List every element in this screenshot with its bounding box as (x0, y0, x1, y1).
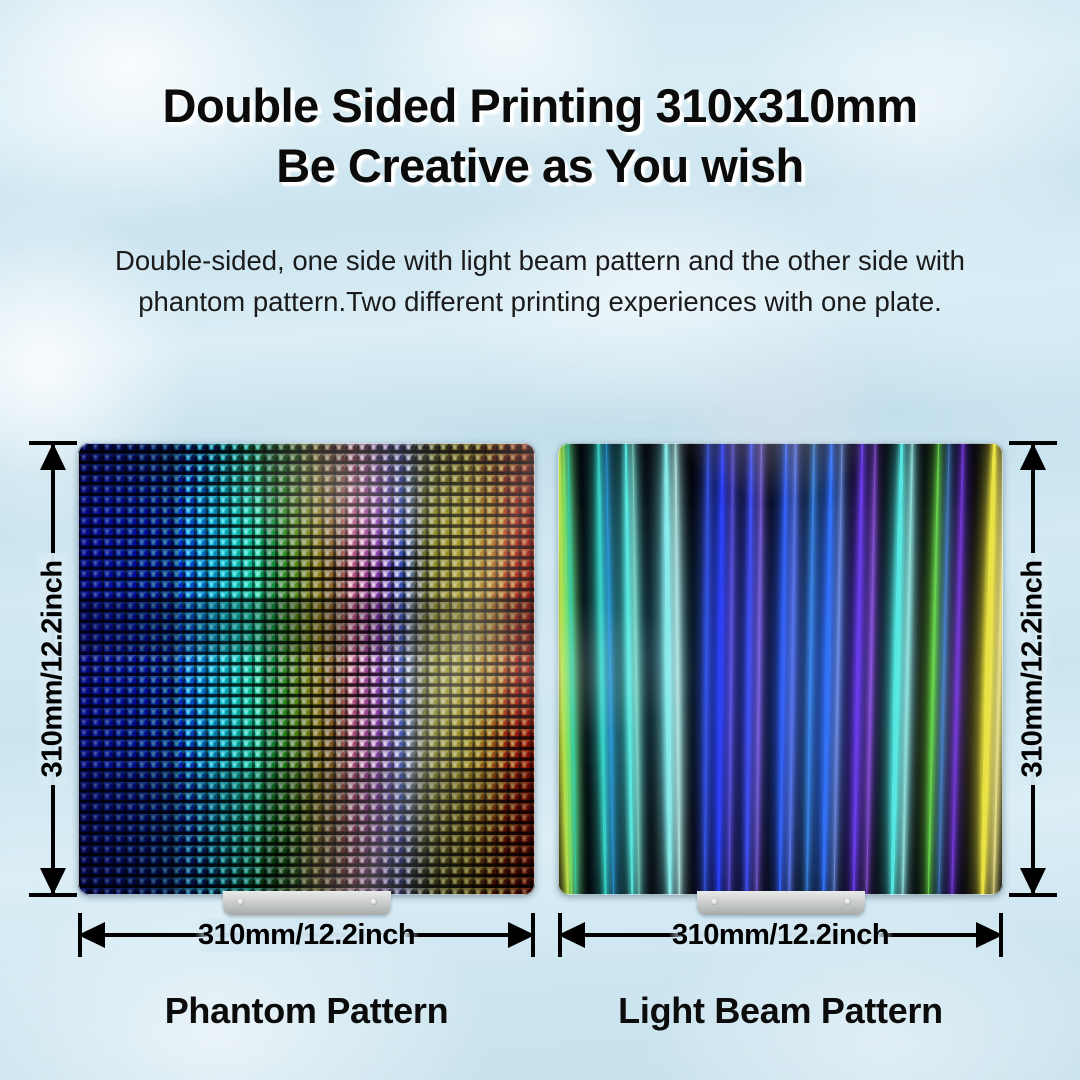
light-beam-width-label: 310mm/12.2inch (668, 919, 893, 952)
product-infographic: Double Sided Printing 310x310mm Be Creat… (0, 0, 1080, 1080)
phantom-height-label: 310mm/12.2inch (37, 560, 70, 777)
arrow-right-icon (508, 922, 535, 948)
subtitle-description: Double-sided, one side with light beam p… (90, 240, 990, 322)
arrow-down-icon (40, 868, 66, 895)
phantom-plate-caption: Phantom Pattern (78, 990, 535, 1032)
arrow-left-icon (78, 922, 105, 948)
arrow-left-icon (558, 922, 585, 948)
light-beam-plate-caption: Light Beam Pattern (558, 990, 1003, 1032)
phantom-pattern-texture (78, 443, 535, 895)
phantom-width-dimension: 310mm/12.2inch (78, 912, 535, 960)
phantom-plate-image (78, 443, 535, 895)
phantom-gloss-sheen (78, 443, 535, 895)
arrow-up-icon (40, 443, 66, 470)
arrow-right-icon (976, 922, 1003, 948)
phantom-width-label: 310mm/12.2inch (194, 919, 419, 952)
light-beam-plate-surface (558, 443, 1003, 895)
light-beam-width-dimension: 310mm/12.2inch (558, 912, 1003, 960)
light-beam-height-label: 310mm/12.2inch (1017, 560, 1050, 777)
arrow-up-icon (1020, 443, 1046, 470)
page-title-line-2: Be Creative as You wish (0, 138, 1080, 193)
light-beam-height-dimension: 310mm/12.2inch (1006, 443, 1060, 895)
arrow-down-icon (1020, 868, 1046, 895)
phantom-height-dimension: 310mm/12.2inch (26, 443, 80, 895)
phantom-plate-surface (78, 443, 535, 895)
light-beam-pattern-texture (558, 443, 1003, 895)
light-beam-plate-image (558, 443, 1003, 895)
page-title-line-1: Double Sided Printing 310x310mm (0, 78, 1080, 133)
